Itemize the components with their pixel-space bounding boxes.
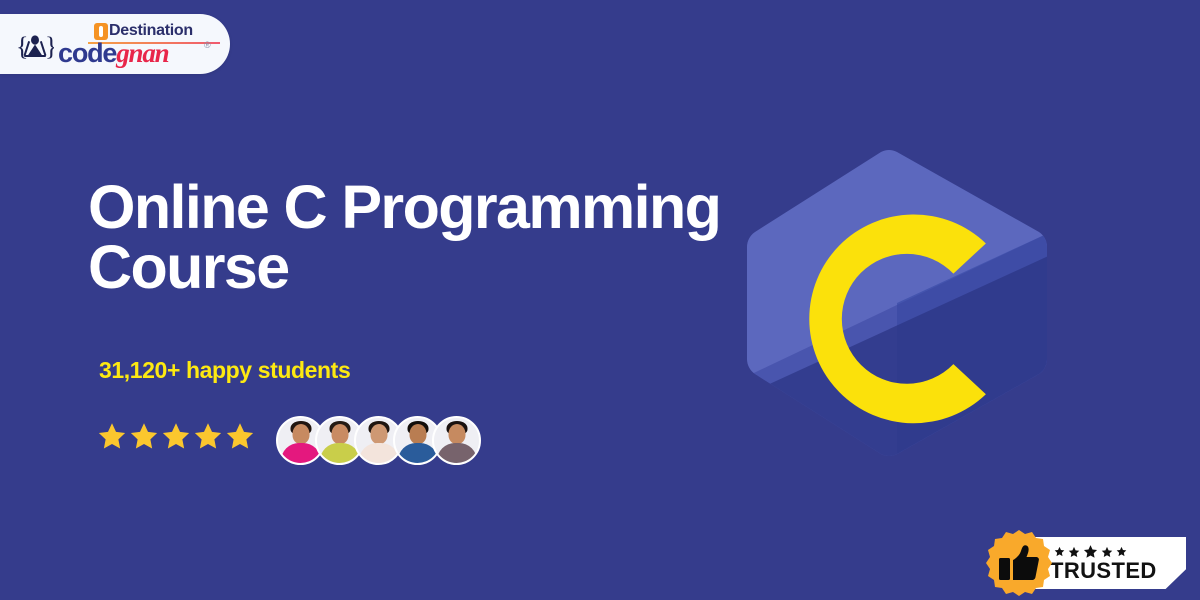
brand-gnan-part: gnan (116, 38, 168, 68)
star-icon (1083, 544, 1098, 559)
destination-label: Destination (109, 23, 193, 39)
course-hero-banner: { } Destination codegnan ® Online C Pro (0, 0, 1200, 600)
registered-mark: ® (204, 40, 211, 50)
svg-text:}: } (45, 32, 54, 61)
trusted-seal (984, 528, 1054, 598)
avatar (432, 416, 481, 465)
star-icon (161, 421, 191, 451)
c-programming-logo (739, 148, 1055, 458)
book-lamp-icon: { } (16, 31, 54, 61)
star-icon (129, 421, 159, 451)
star-icon (1054, 546, 1065, 557)
star-icon (1101, 546, 1113, 558)
star-icon (1116, 546, 1127, 557)
star-icon (97, 421, 127, 451)
badge-label: TRUSTED (1050, 560, 1157, 582)
star-icon (193, 421, 223, 451)
headline-line-1: Online C Programming (88, 178, 748, 238)
trusted-badge: TRUSTED (984, 528, 1186, 598)
brand-wordmark: Destination codegnan ® (58, 18, 224, 72)
star-icon (1068, 546, 1080, 558)
brand-logo[interactable]: { } Destination codegnan ® (0, 14, 230, 74)
codegnan-wordmark: codegnan (58, 40, 168, 67)
badge-star-row (1054, 544, 1127, 559)
student-avatar-group (276, 416, 481, 463)
page-title: Online C Programming Course (88, 178, 748, 298)
happy-students-count: 31,120+ happy students (99, 357, 350, 384)
rating-stars (97, 421, 255, 451)
headline-line-2: Course (88, 238, 748, 298)
destination-d-tile (94, 23, 108, 40)
brand-code-part: code (58, 38, 116, 68)
star-icon (225, 421, 255, 451)
